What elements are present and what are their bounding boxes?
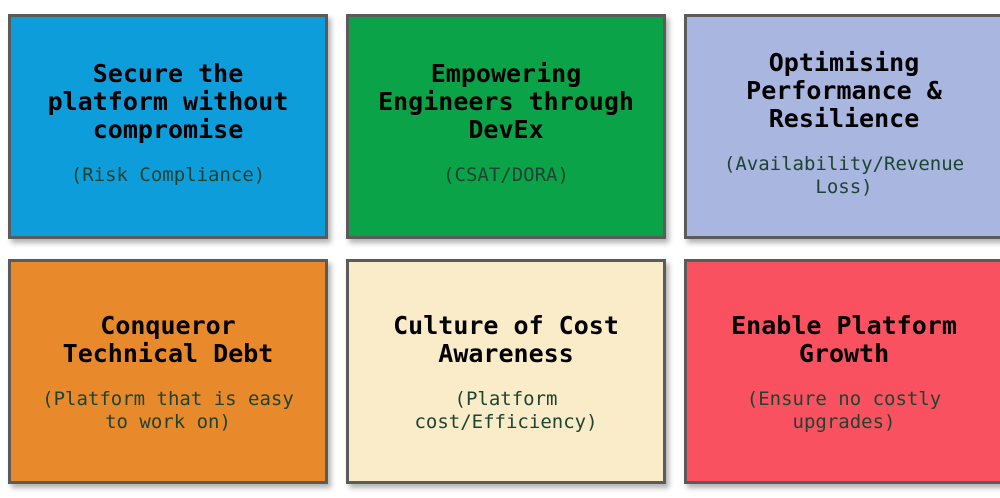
- objective-card-title: Secure the platform without compromise: [48, 60, 289, 144]
- objective-card-title: Culture of Cost Awareness: [393, 312, 619, 368]
- objective-card-subtitle: (Risk Compliance): [71, 164, 265, 187]
- objective-card-conqueror-technical-debt[interactable]: Conqueror Technical Debt (Platform that …: [8, 259, 328, 484]
- objective-card-optimising-performance[interactable]: Optimising Performance & Resilience (Ava…: [684, 14, 1000, 239]
- objective-card-enable-platform-growth[interactable]: Enable Platform Growth (Ensure no costly…: [684, 259, 1000, 484]
- objective-card-culture-of-cost-awareness[interactable]: Culture of Cost Awareness (Platform cost…: [346, 259, 666, 484]
- objectives-card-grid: Secure the platform without compromise (…: [0, 0, 1000, 498]
- objective-card-subtitle: (Ensure no costly upgrades): [747, 388, 941, 434]
- objective-card-title: Conqueror Technical Debt: [63, 312, 274, 368]
- objective-card-title: Empowering Engineers through DevEx: [378, 60, 634, 144]
- objective-card-empowering-engineers[interactable]: Empowering Engineers through DevEx (CSAT…: [346, 14, 666, 239]
- objective-card-subtitle: (CSAT/DORA): [443, 164, 569, 187]
- objective-card-title: Enable Platform Growth: [731, 312, 957, 368]
- objective-card-subtitle: (Platform that is easy to work on): [42, 388, 294, 434]
- objective-card-subtitle: (Platform cost/Efficiency): [414, 388, 597, 434]
- objective-card-title: Optimising Performance & Resilience: [746, 49, 942, 133]
- objective-card-subtitle: (Availability/Revenue Loss): [724, 153, 964, 199]
- objective-card-secure-platform[interactable]: Secure the platform without compromise (…: [8, 14, 328, 239]
